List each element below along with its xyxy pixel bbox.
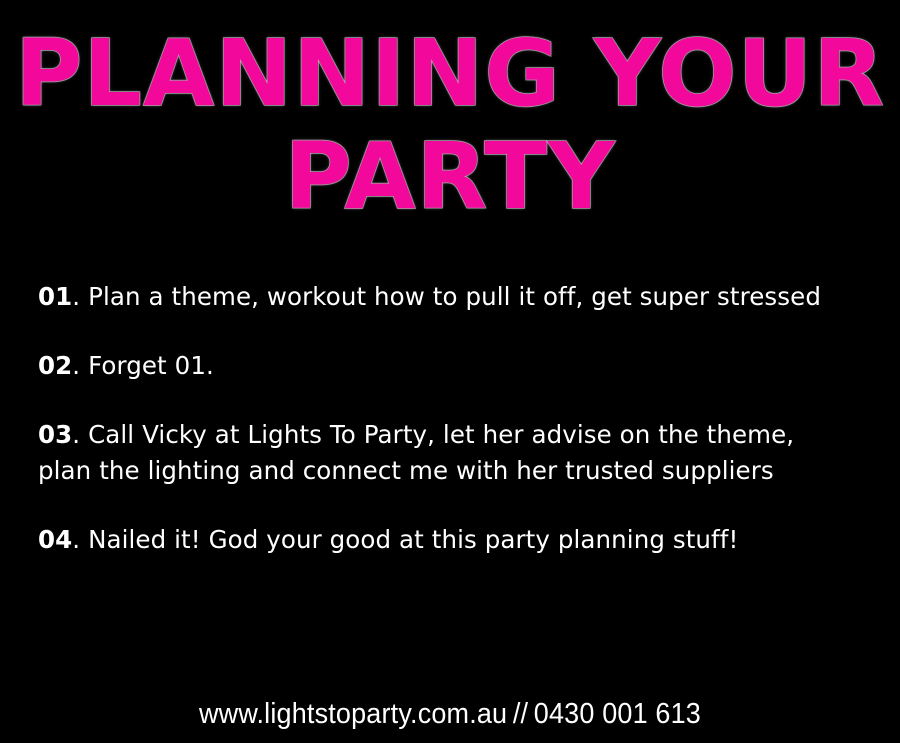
- page-title: PLANNING YOUR PARTY: [0, 22, 900, 228]
- phone-number[interactable]: 0430 001 613: [534, 698, 701, 730]
- steps-list: 01. Plan a theme, workout how to pull it…: [38, 279, 858, 558]
- website-link[interactable]: www.lightstoparty.com.au: [199, 698, 507, 730]
- step-number: 02: [38, 351, 72, 380]
- step-text: Nailed it! God your good at this party p…: [80, 525, 738, 554]
- footer-separator: //: [507, 698, 534, 730]
- step-text: Plan a theme, workout how to pull it off…: [80, 282, 821, 311]
- step-number: 03: [38, 420, 72, 449]
- step-number: 01: [38, 282, 72, 311]
- list-item: 03. Call Vicky at Lights To Party, let h…: [38, 417, 850, 489]
- list-item: 02. Forget 01.: [38, 348, 828, 384]
- step-dot: .: [72, 351, 80, 380]
- step-dot: .: [72, 282, 80, 311]
- step-text: Call Vicky at Lights To Party, let her a…: [38, 420, 794, 485]
- step-number: 04: [38, 525, 72, 554]
- contact-footer: www.lightstoparty.com.au//0430 001 613: [32, 696, 869, 732]
- list-item: 01. Plan a theme, workout how to pull it…: [38, 279, 828, 315]
- list-item: 04. Nailed it! God your good at this par…: [38, 522, 898, 558]
- step-dot: .: [72, 420, 80, 449]
- step-text: Forget 01.: [80, 351, 214, 380]
- poster-canvas: PLANNING YOUR PARTY 01. Plan a theme, wo…: [0, 0, 900, 743]
- step-dot: .: [72, 525, 80, 554]
- title-line-2: PARTY: [0, 125, 900, 228]
- title-line-1: PLANNING YOUR: [0, 22, 900, 125]
